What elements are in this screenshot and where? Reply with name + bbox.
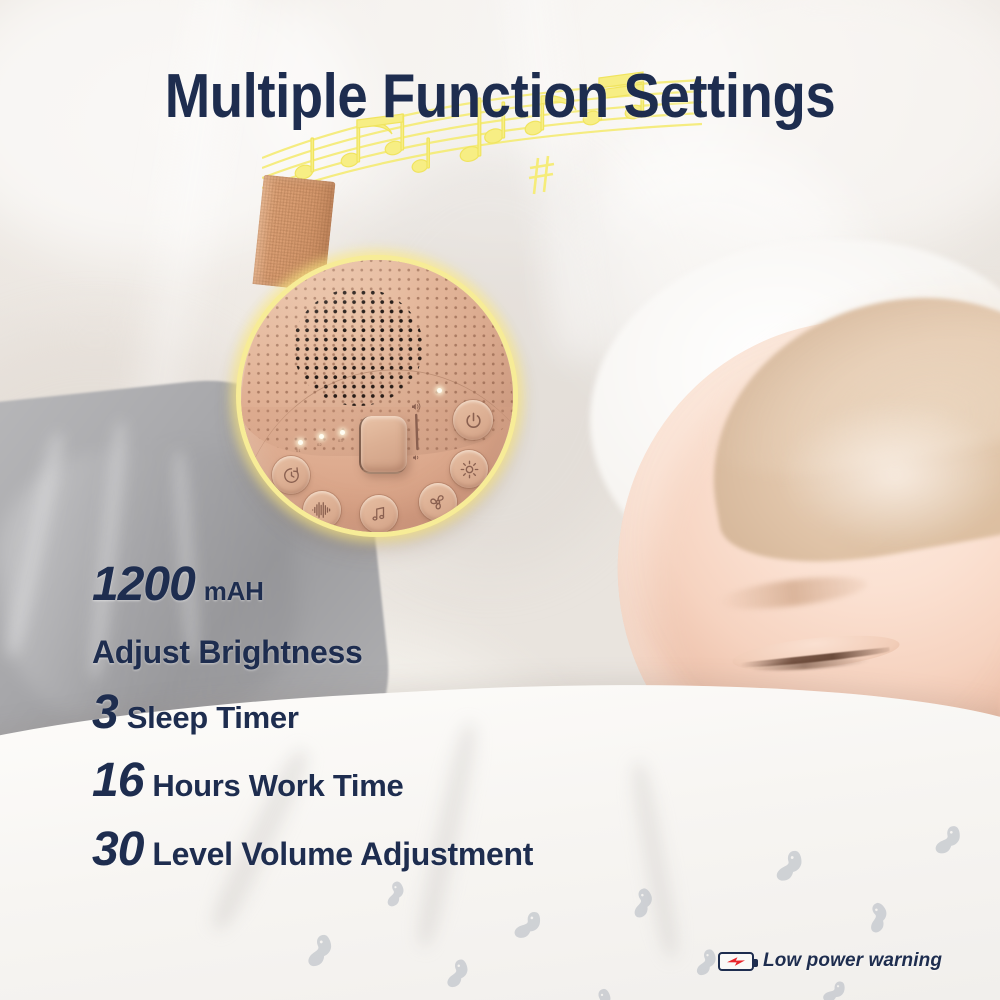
feature-item-brightness: Adjust Brightness	[92, 636, 732, 670]
feature-number: 3	[92, 688, 118, 738]
feature-number: 1200	[92, 560, 195, 610]
squirrel-print	[300, 930, 334, 968]
feature-item-sleep-timer: 3 Sleep Timer	[92, 688, 732, 738]
feature-label: Hours Work Time	[152, 770, 403, 803]
portable-white-noise-sound-machine: 01 02 03	[218, 178, 538, 548]
battery-low-icon	[718, 952, 754, 971]
status-led	[340, 430, 345, 435]
lightning-bolt-icon	[725, 955, 747, 968]
feature-label: Adjust Brightness	[92, 636, 362, 670]
speaker-low-icon	[413, 455, 418, 460]
led-label: 01	[296, 448, 301, 453]
squirrel-print	[440, 955, 470, 989]
fan-icon	[428, 492, 448, 512]
led-label: 02	[317, 442, 322, 447]
music-note-icon	[370, 505, 388, 523]
status-led	[298, 440, 303, 445]
feature-number: 30	[92, 825, 143, 875]
feature-label: Sleep Timer	[127, 702, 299, 735]
power-indicator-led	[437, 388, 442, 393]
brightness-button[interactable]	[450, 450, 488, 488]
sound-wave-icon	[311, 500, 333, 520]
timer-icon	[282, 466, 301, 485]
music-button[interactable]	[360, 495, 398, 532]
status-led	[319, 434, 324, 439]
forehead-highlight	[780, 400, 1000, 550]
low-power-warning-text: Low power warning	[763, 950, 942, 972]
feature-list: 1200 mAH Adjust Brightness 3 Sleep Timer…	[92, 560, 732, 889]
fan-button[interactable]	[419, 483, 457, 521]
feature-label: mAH	[204, 578, 264, 605]
page-title: Multiple Function Settings	[60, 66, 940, 128]
baby-closed-eye	[732, 638, 900, 668]
feature-item-volume: 30 Level Volume Adjustment	[92, 825, 732, 875]
feature-item-work-time: 16 Hours Work Time	[92, 756, 732, 806]
power-button[interactable]	[453, 400, 493, 440]
squirrel-print	[768, 843, 807, 885]
squirrel-print	[690, 945, 718, 977]
power-icon	[464, 411, 483, 430]
low-power-warning: Low power warning	[718, 950, 942, 972]
sun-brightness-icon	[460, 460, 479, 479]
feature-item-battery: 1200 mAH	[92, 560, 732, 610]
feature-number: 16	[92, 756, 143, 806]
volume-indicator	[411, 402, 423, 469]
speaker-high-icon	[412, 403, 420, 410]
led-label: 03	[338, 438, 343, 443]
feature-label: Level Volume Adjustment	[152, 838, 533, 872]
timer-button[interactable]	[272, 456, 310, 494]
promo-image: 01 02 03	[0, 0, 1000, 1000]
raised-control-pad[interactable]	[359, 416, 407, 474]
squirrel-print	[584, 984, 615, 1000]
device-body: 01 02 03	[241, 260, 513, 532]
sound-wave-button[interactable]	[303, 491, 341, 529]
